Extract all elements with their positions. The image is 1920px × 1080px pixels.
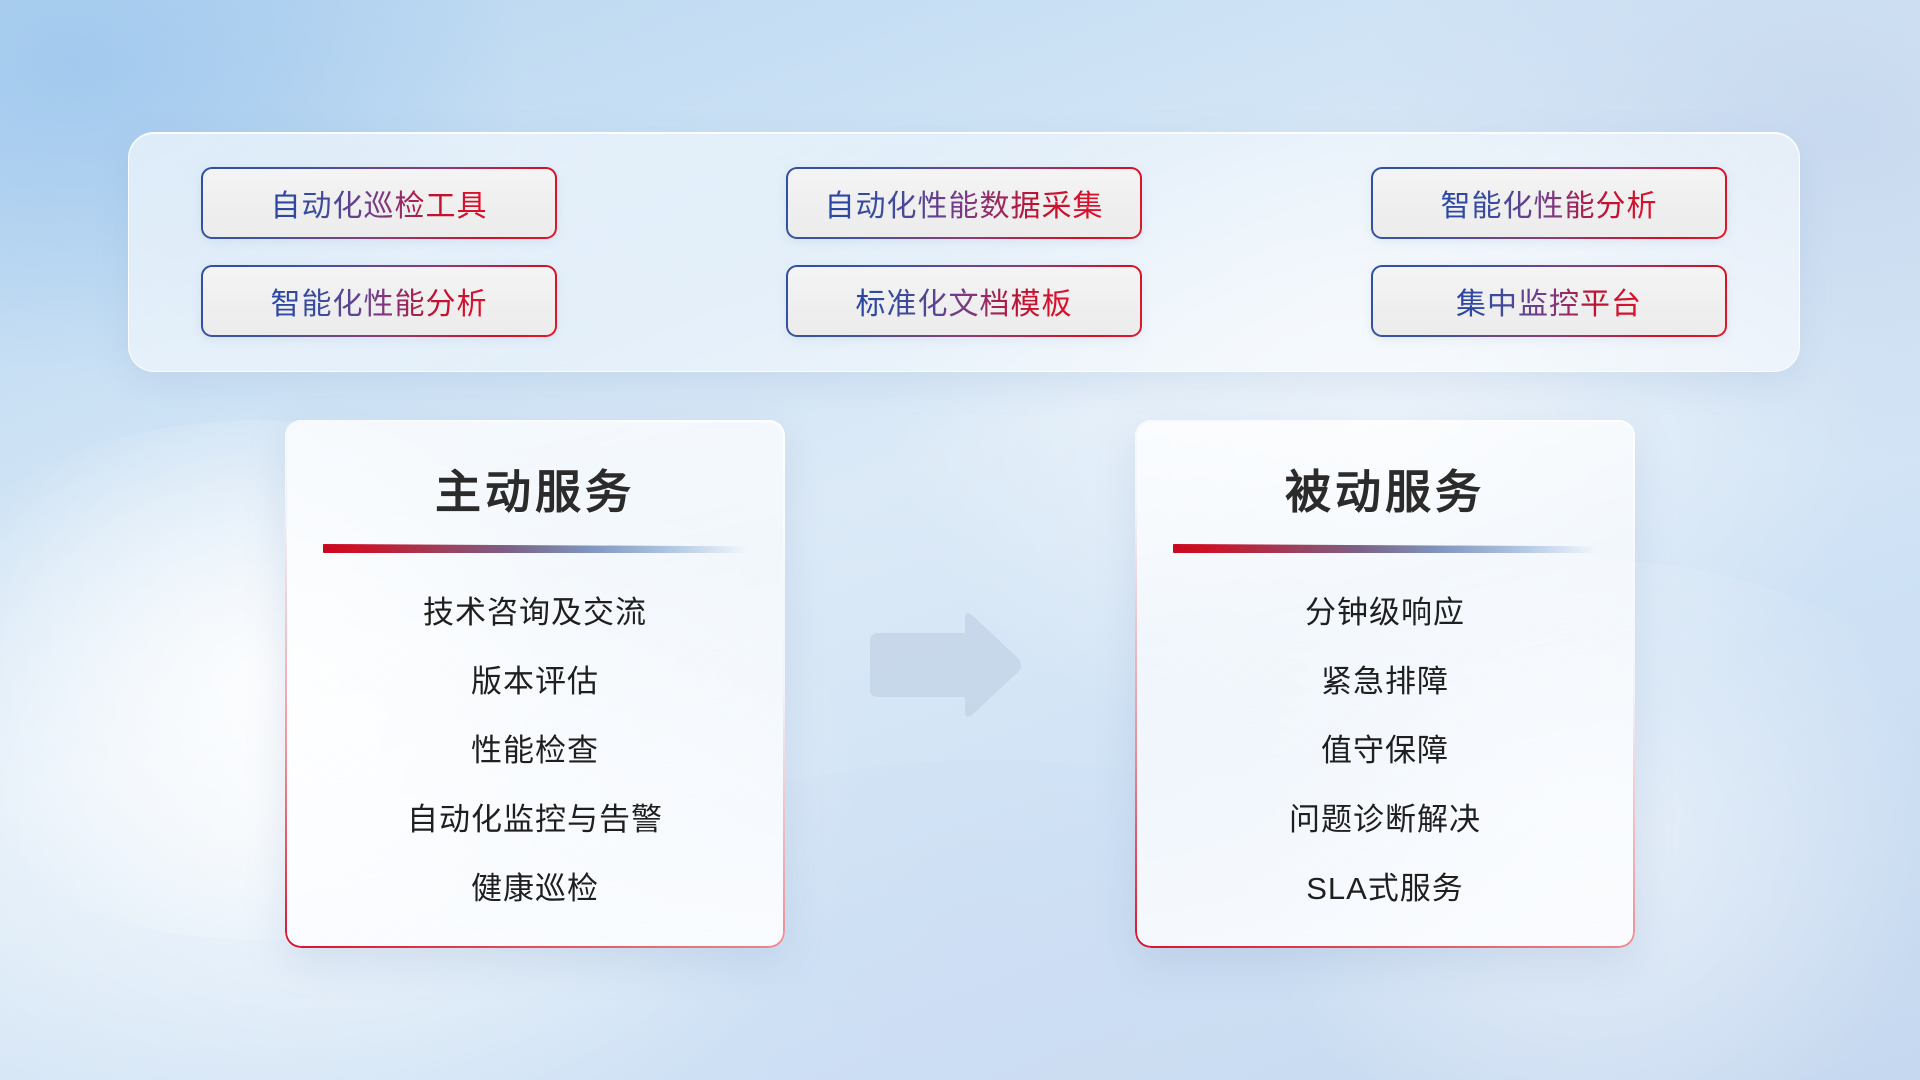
- tag-label: 自动化性能数据采集: [825, 181, 1104, 225]
- capability-tags-panel: 自动化巡检工具 自动化性能数据采集 智能化性能分析 智能化性能分析: [128, 132, 1800, 372]
- tag-label: 集中监控平台: [1456, 279, 1642, 323]
- list-item: 紧急排障: [1321, 656, 1449, 701]
- tag-chip-auto-inspection-tool[interactable]: 自动化巡检工具: [201, 167, 557, 239]
- list-item: 技术咨询及交流: [423, 587, 647, 632]
- list-item: SLA式服务: [1306, 863, 1464, 908]
- tag-chip-intelligent-perf-analysis[interactable]: 智能化性能分析: [1371, 167, 1727, 239]
- card-title: 被动服务: [1135, 456, 1635, 522]
- tag-chip-surface: 集中监控平台: [1373, 267, 1725, 335]
- list-item: 健康巡检: [471, 863, 599, 908]
- tag-label: 标准化文档模板: [856, 279, 1073, 323]
- tag-chip-surface: 标准化文档模板: [788, 267, 1140, 335]
- card-title-underline: [1173, 544, 1597, 553]
- list-item: 自动化监控与告警: [407, 794, 663, 839]
- tag-chip-surface: 自动化性能数据采集: [788, 169, 1140, 237]
- list-item: 分钟级响应: [1305, 587, 1465, 632]
- tag-label: 智能化性能分析: [1441, 181, 1658, 225]
- card-title-underline: [323, 544, 747, 553]
- card-service-list: 分钟级响应 紧急排障 值守保障 问题诊断解决 SLA式服务: [1135, 587, 1635, 908]
- tag-row-2: 智能化性能分析 标准化文档模板 集中监控平台: [201, 265, 1727, 337]
- tag-row-1: 自动化巡检工具 自动化性能数据采集 智能化性能分析: [201, 167, 1727, 239]
- tag-chip-surface: 智能化性能分析: [203, 267, 555, 335]
- tag-label: 智能化性能分析: [271, 279, 488, 323]
- list-item: 值守保障: [1321, 725, 1449, 770]
- list-item: 性能检查: [471, 725, 599, 770]
- tag-chip-surface: 智能化性能分析: [1373, 169, 1725, 237]
- card-service-list: 技术咨询及交流 版本评估 性能检查 自动化监控与告警 健康巡检: [285, 587, 785, 908]
- card-active-service: 主动服务 技术咨询及交流 版本评估 性能检查 自动化监控与告警 健康巡检: [285, 420, 785, 948]
- tag-chip-standard-doc-template[interactable]: 标准化文档模板: [786, 265, 1142, 337]
- list-item: 问题诊断解决: [1289, 794, 1481, 839]
- diagram-canvas: 自动化巡检工具 自动化性能数据采集 智能化性能分析 智能化性能分析: [0, 0, 1920, 1080]
- tag-chip-intelligent-perf-analysis-2[interactable]: 智能化性能分析: [201, 265, 557, 337]
- card-passive-service: 被动服务 分钟级响应 紧急排障 值守保障 问题诊断解决 SLA式服务: [1135, 420, 1635, 948]
- tag-chip-central-monitoring-platform[interactable]: 集中监控平台: [1371, 265, 1727, 337]
- list-item: 版本评估: [471, 656, 599, 701]
- tag-chip-auto-perf-data-collection[interactable]: 自动化性能数据采集: [786, 167, 1142, 239]
- flow-arrow-right-icon: [862, 610, 1024, 720]
- card-title: 主动服务: [285, 456, 785, 522]
- tag-label: 自动化巡检工具: [271, 181, 488, 225]
- tag-chip-surface: 自动化巡检工具: [203, 169, 555, 237]
